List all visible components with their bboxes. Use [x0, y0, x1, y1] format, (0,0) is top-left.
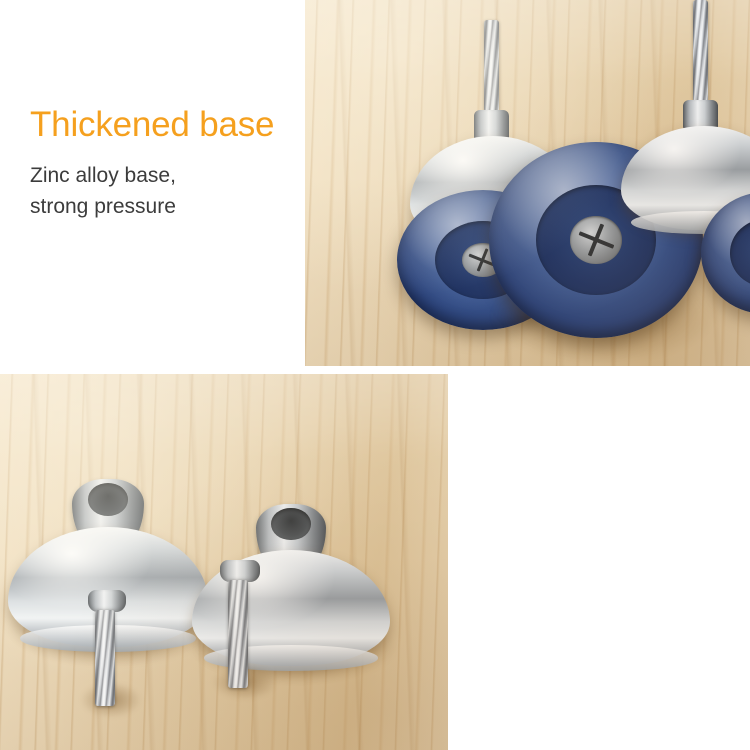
bolt-stem: [228, 580, 248, 688]
strong-load-bearing-panel: Strong load bearing Can be used for cabi…: [0, 374, 750, 750]
loose-bolt-right: [218, 560, 262, 702]
bolt-stem: [693, 0, 708, 102]
pad-inner-ring: [730, 219, 750, 287]
loose-bolt-left: [84, 590, 128, 720]
bolt-stem: [484, 20, 499, 112]
socket-hole: [88, 483, 128, 516]
top-panel-text-block: Thickened base Zinc alloy base, strong p…: [30, 104, 310, 222]
top-panel-headline: Thickened base: [30, 104, 310, 146]
top-panel-photo-background: [305, 0, 750, 366]
leveling-foot-far-right-partial: [701, 192, 750, 322]
product-infographic: Thickened base Zinc alloy base, strong p…: [0, 0, 750, 750]
panel-divider: [0, 366, 750, 374]
bolt-head: [88, 590, 126, 612]
bolt-stem: [95, 610, 115, 706]
socket-hole: [271, 508, 310, 540]
bolt-head: [220, 560, 260, 582]
blue-rubber-pad: [701, 192, 750, 314]
phillips-screw-head: [570, 216, 621, 263]
bottom-panel-photo-background: [0, 374, 448, 750]
thickened-base-panel: Thickened base Zinc alloy base, strong p…: [0, 0, 750, 366]
top-panel-subtext: Zinc alloy base, strong pressure: [30, 160, 310, 222]
